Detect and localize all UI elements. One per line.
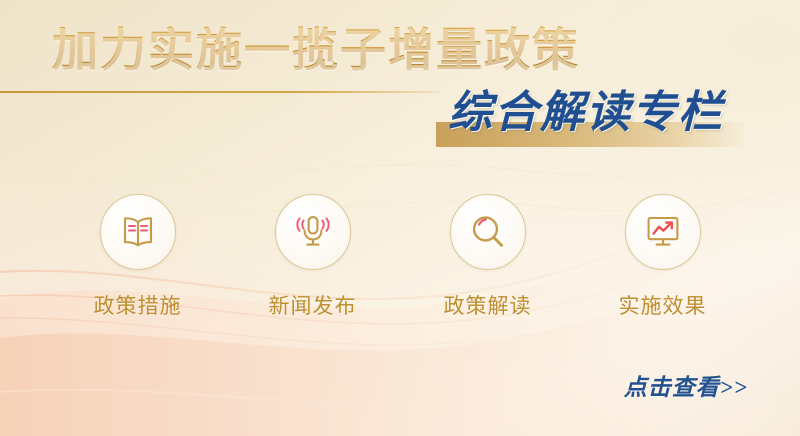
nav-item-implementation-effect[interactable]: 实施效果 bbox=[595, 194, 730, 320]
open-book-icon bbox=[100, 194, 176, 270]
nav-item-policy-measures[interactable]: 政策措施 bbox=[70, 194, 205, 320]
nav-label-policy-measures: 政策措施 bbox=[94, 290, 182, 320]
nav-item-news-release[interactable]: 新闻发布 bbox=[245, 194, 380, 320]
nav-item-policy-interpretation[interactable]: 政策解读 bbox=[420, 194, 555, 320]
click-to-view-link[interactable]: 点击查看>> bbox=[624, 368, 748, 402]
chart-board-icon bbox=[625, 194, 701, 270]
banner-heading-group: 加力实施一揽子增量政策 综合解读专栏 bbox=[0, 0, 800, 165]
page-title: 加力实施一揽子增量政策 bbox=[52, 22, 580, 80]
quick-nav-row: 政策措施 新闻发布 bbox=[0, 194, 800, 320]
page-subtitle: 综合解读专栏 bbox=[448, 86, 724, 140]
policy-column-banner: 加力实施一揽子增量政策 综合解读专栏 政策措施 bbox=[0, 0, 800, 436]
nav-label-implementation-effect: 实施效果 bbox=[619, 290, 707, 320]
title-divider-rule bbox=[0, 91, 440, 93]
nav-label-news-release: 新闻发布 bbox=[269, 290, 357, 320]
nav-label-policy-interpretation: 政策解读 bbox=[444, 290, 532, 320]
microphone-icon bbox=[275, 194, 351, 270]
magnifier-icon bbox=[450, 194, 526, 270]
